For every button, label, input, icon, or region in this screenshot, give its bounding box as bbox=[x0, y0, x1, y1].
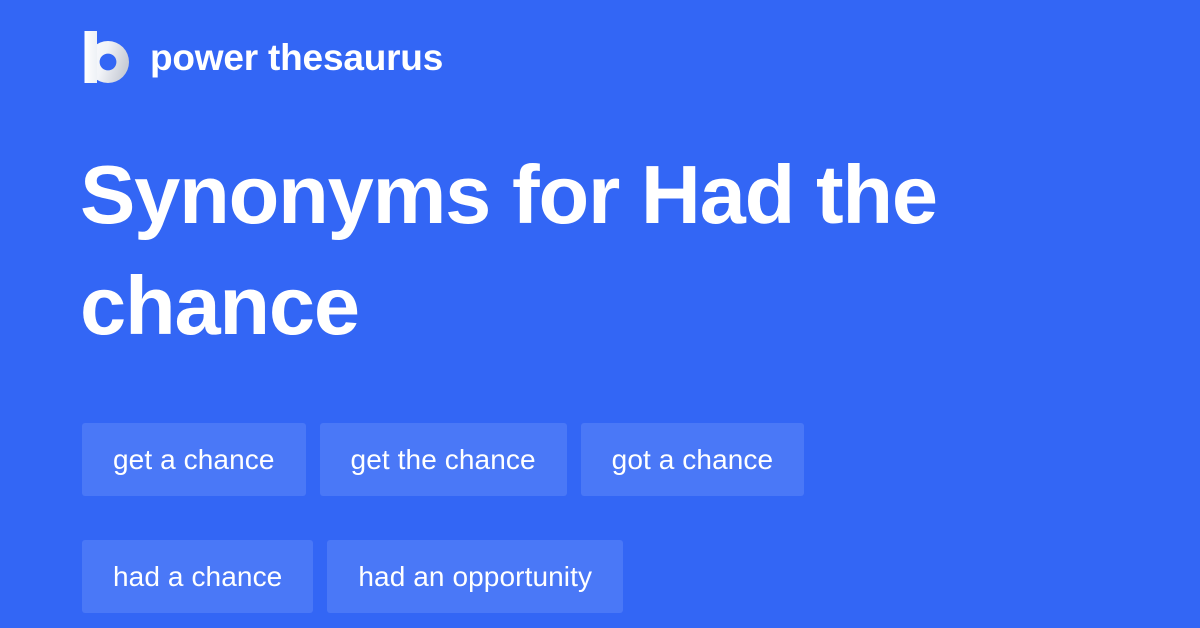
synonym-chip[interactable]: had a chance bbox=[82, 540, 313, 613]
synonym-chip[interactable]: had an opportunity bbox=[327, 540, 623, 613]
synonym-chip[interactable]: got a chance bbox=[581, 423, 805, 496]
synonym-chip[interactable]: get the chance bbox=[320, 423, 567, 496]
synonym-chip-list: get a chance get the chance got a chance… bbox=[82, 423, 1122, 613]
brand-name: power thesaurus bbox=[150, 39, 443, 76]
synonym-chip[interactable]: get a chance bbox=[82, 423, 306, 496]
power-thesaurus-b-logo-icon bbox=[82, 28, 132, 86]
brand-header[interactable]: power thesaurus bbox=[82, 28, 443, 86]
page-title: Synonyms for Had the chance bbox=[80, 139, 1080, 361]
